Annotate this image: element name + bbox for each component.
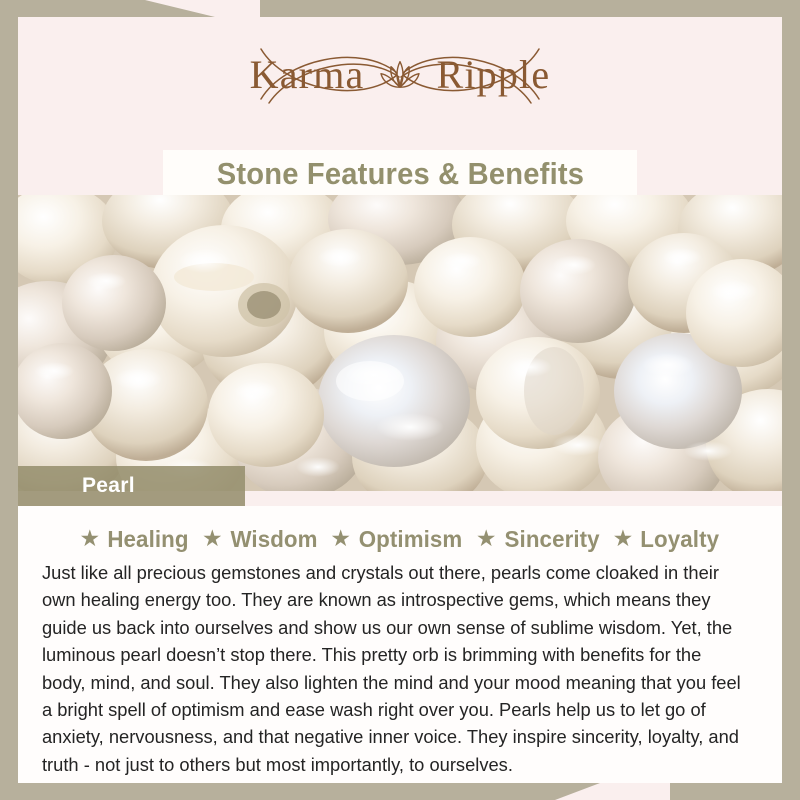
pearl-photo-illustration [18,195,782,491]
content-section: ★ Healing ★ Wisdom ★ Optimism ★ Sincerit… [18,506,782,783]
keyword-sincerity: Sincerity [504,526,605,553]
stone-name-ribbon: Pearl [18,466,245,506]
header: Karma Ripple [18,17,782,130]
star-icon: ★ [470,527,503,550]
star-icon: ★ [324,527,357,550]
infographic-page: Karma Ripple Stone Features & Benefits [0,0,800,800]
keyword-optimism: Optimism [359,526,468,553]
corner-notch-top [145,0,260,17]
stone-name: Pearl [18,474,135,498]
star-icon: ★ [74,527,107,550]
brand-word-left: Karma [214,51,401,98]
keyword-healing: Healing [108,526,195,553]
description-text: Just like all precious gemstones and cry… [40,559,749,778]
corner-notch-bottom [555,783,670,800]
card: Karma Ripple Stone Features & Benefits [18,17,782,783]
brand-word-right: Ripple [400,51,586,98]
pearl-photo [18,195,782,491]
section-title-band: Stone Features & Benefits [163,150,637,197]
keyword-loyalty: Loyalty [641,526,726,553]
star-icon: ★ [607,527,640,550]
brand-logo[interactable]: Karma Ripple [18,35,782,113]
star-icon: ★ [196,527,229,550]
lotus-icon [377,58,423,92]
keyword-wisdom: Wisdom [230,526,323,553]
page-title: Stone Features & Benefits [216,156,583,192]
keyword-list: ★ Healing ★ Wisdom ★ Optimism ★ Sincerit… [40,519,760,559]
